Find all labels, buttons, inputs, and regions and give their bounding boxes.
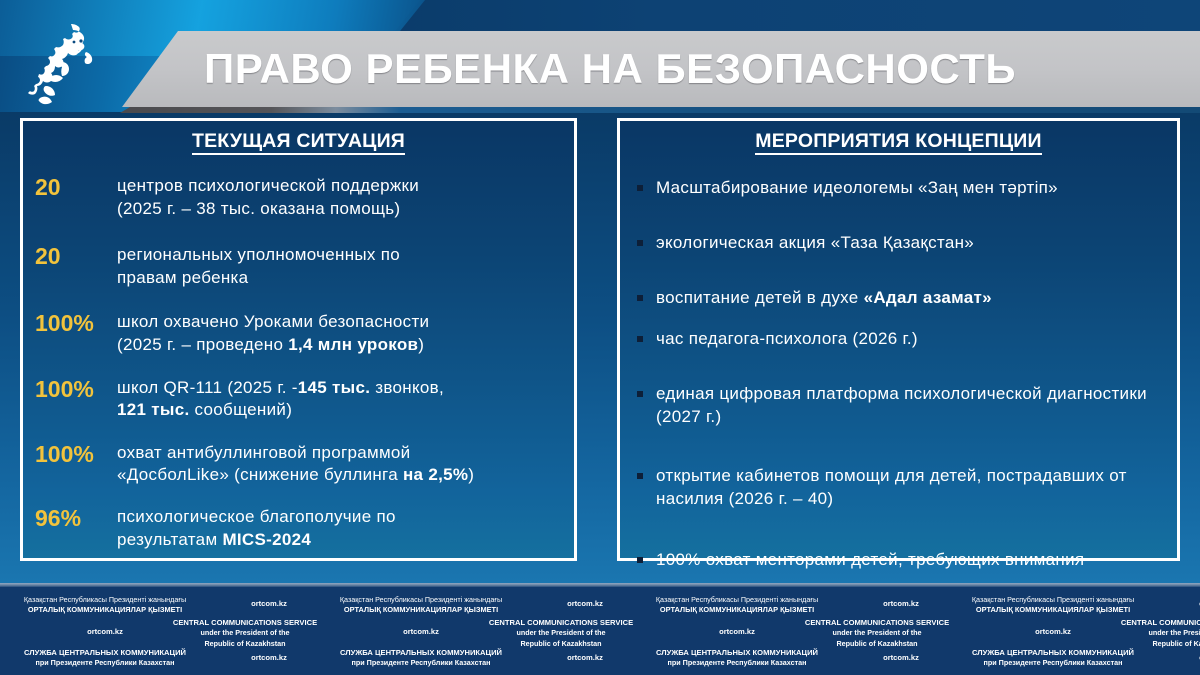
footer-banner: Қазақстан Республикасы Президенті жанынд… xyxy=(0,583,1200,675)
stat-value: 100% xyxy=(31,442,117,467)
stat-line-2-bold: MICS-2024 xyxy=(222,530,311,549)
list-item-label: единая цифровая платформа психологическо… xyxy=(656,383,1163,429)
left-panel-heading-text: ТЕКУЩАЯ СИТУАЦИЯ xyxy=(192,130,405,155)
list-item-label: открытие кабинетов помощи для детей, пос… xyxy=(656,465,1163,511)
footer-website-url[interactable]: ortcom.kz xyxy=(1170,599,1200,608)
right-panel-heading-text: МЕРОПРИЯТИЯ КОНЦЕПЦИИ xyxy=(755,130,1041,155)
bullet-square-icon xyxy=(630,177,656,191)
bullet-square-icon xyxy=(630,465,656,479)
stat-value: 20 xyxy=(31,175,117,200)
stat-line-2-bold: 1,4 млн уроков xyxy=(288,335,418,354)
bullet-square-icon xyxy=(630,232,656,246)
title-bar: ПРАВО РЕБЕНКА НА БЕЗОПАСНОСТЬ xyxy=(122,31,1200,107)
stat-line-1-bold: 145 тыс. xyxy=(298,378,371,397)
stat-line-2-post: ) xyxy=(468,465,474,484)
footer-kazakh-name: Қазақстан Республикасы Президенті жанынд… xyxy=(948,595,1158,616)
footer-logo-strip: Қазақстан Республикасы Президенті жанынд… xyxy=(0,587,1200,675)
stat-description: школ QR-111 (2025 г. -145 тыс. звонков, … xyxy=(117,377,564,422)
list-item: открытие кабинетов помощи для детей, пос… xyxy=(630,465,1163,511)
footer-logo-tile: Қазақстан Республикасы Президенті жанынд… xyxy=(0,587,316,675)
stat-row: 96% психологическое благополучие по резу… xyxy=(23,506,574,551)
footer-russian-name: СЛУЖБА ЦЕНТРАЛЬНЫХ КОММУНИКАЦИЙпри Прези… xyxy=(948,647,1158,668)
stat-value: 20 xyxy=(31,244,117,269)
list-item-text: открытие кабинетов помощи для детей, пос… xyxy=(656,466,1127,508)
list-item-text: 100% охват менторами детей, требующих вн… xyxy=(656,550,1084,569)
stat-value: 100% xyxy=(31,377,117,402)
stat-line-2: (2025 г. – 38 тыс. оказана помощь) xyxy=(117,199,400,218)
stat-line-2-bold: на 2,5% xyxy=(403,465,468,484)
footer-logo-tile: Қазақстан Республикасы Президенті жанынд… xyxy=(632,587,948,675)
stat-row: 100% школ охвачено Уроками безопасности … xyxy=(23,311,574,356)
list-item-text: экологическая акция «Таза Қазақстан» xyxy=(656,233,974,252)
stat-row: 100% школ QR-111 (2025 г. -145 тыс. звон… xyxy=(23,377,574,422)
stat-list: 20 центров психологической поддержки (20… xyxy=(23,167,574,551)
footer-website-url[interactable]: ortcom.kz xyxy=(222,653,316,662)
slide-root: ПРАВО РЕБЕНКА НА БЕЗОПАСНОСТЬ ТЕКУЩАЯ СИ… xyxy=(0,0,1200,675)
footer-website-url[interactable]: ortcom.kz xyxy=(58,627,152,636)
stat-line-1: школ охвачено Уроками безопасности xyxy=(117,312,429,331)
stat-description: психологическое благополучие по результа… xyxy=(117,506,564,551)
list-item: 100% охват менторами детей, требующих вн… xyxy=(630,549,1163,572)
footer-english-name: CENTRAL COMMUNICATIONS SERVICEunder the … xyxy=(466,617,656,650)
footer-logo-tile: Қазақстан Республикасы Президенті жанынд… xyxy=(316,587,632,675)
list-item-label: 100% охват менторами детей, требующих вн… xyxy=(656,549,1163,572)
list-item-text: Масштабирование идеологемы «Заң мен тәрт… xyxy=(656,178,1058,197)
bullet-square-icon xyxy=(630,549,656,563)
stat-line-1: региональных уполномоченных по xyxy=(117,245,400,264)
list-item-label: Масштабирование идеологемы «Заң мен тәрт… xyxy=(656,177,1163,200)
list-item-label: воспитание детей в духе «Адал азамат» xyxy=(656,287,1163,310)
footer-website-url[interactable]: ortcom.kz xyxy=(538,599,632,608)
list-item-label: экологическая акция «Таза Қазақстан» xyxy=(656,232,1163,255)
right-panel-heading: МЕРОПРИЯТИЯ КОНЦЕПЦИИ xyxy=(620,130,1177,153)
footer-kazakh-name: Қазақстан Республикасы Президенті жанынд… xyxy=(632,595,842,616)
page-title: ПРАВО РЕБЕНКА НА БЕЗОПАСНОСТЬ xyxy=(204,48,1016,90)
stat-line-1-post: звонков, xyxy=(370,378,444,397)
stat-description: региональных уполномоченных по правам ре… xyxy=(117,244,564,289)
list-item: Масштабирование идеологемы «Заң мен тәрт… xyxy=(630,177,1163,200)
left-panel-heading: ТЕКУЩАЯ СИТУАЦИЯ xyxy=(23,130,574,153)
footer-website-url[interactable]: ortcom.kz xyxy=(374,627,468,636)
stat-line-2-post: ) xyxy=(418,335,424,354)
bullet-square-icon xyxy=(630,287,656,301)
stat-line-2: правам ребенка xyxy=(117,268,248,287)
footer-russian-name: СЛУЖБА ЦЕНТРАЛЬНЫХ КОММУНИКАЦИЙпри Прези… xyxy=(632,647,842,668)
footer-kazakh-name: Қазақстан Республикасы Президенті жанынд… xyxy=(316,595,526,616)
bullet-square-icon xyxy=(630,383,656,397)
footer-website-url[interactable]: ortcom.kz xyxy=(222,599,316,608)
snow-leopard-emblem xyxy=(26,24,104,116)
stat-line-1: центров психологической поддержки xyxy=(117,176,419,195)
stat-line-1-pre: школ QR-111 (2025 г. - xyxy=(117,378,298,397)
list-item-text: час педагога-психолога (2026 г.) xyxy=(656,329,918,348)
list-item: воспитание детей в духе «Адал азамат» xyxy=(630,287,1163,310)
footer-english-name: CENTRAL COMMUNICATIONS SERVICEunder the … xyxy=(1098,617,1200,650)
footer-russian-name: СЛУЖБА ЦЕНТРАЛЬНЫХ КОММУНИКАЦИЙпри Прези… xyxy=(316,647,526,668)
footer-website-url[interactable]: ortcom.kz xyxy=(1170,653,1200,662)
list-item-text: воспитание детей в духе xyxy=(656,288,864,307)
bullet-square-icon xyxy=(630,328,656,342)
stat-value: 100% xyxy=(31,311,117,336)
footer-logo-tile: Қазақстан Республикасы Президенті жанынд… xyxy=(948,587,1200,675)
list-item-label: час педагога-психолога (2026 г.) xyxy=(656,328,1163,351)
stat-value: 96% xyxy=(31,506,117,531)
stat-description: центров психологической поддержки (2025 … xyxy=(117,175,564,220)
footer-russian-name: СЛУЖБА ЦЕНТРАЛЬНЫХ КОММУНИКАЦИЙпри Прези… xyxy=(0,647,210,668)
stat-line-2-pre: (2025 г. – проведено xyxy=(117,335,288,354)
current-situation-panel: ТЕКУЩАЯ СИТУАЦИЯ 20 центров психологичес… xyxy=(20,118,577,561)
footer-website-url[interactable]: ortcom.kz xyxy=(690,627,784,636)
bullet-list: Масштабирование идеологемы «Заң мен тәрт… xyxy=(620,165,1177,571)
footer-website-url[interactable]: ortcom.kz xyxy=(538,653,632,662)
footer-kazakh-name: Қазақстан Республикасы Президенті жанынд… xyxy=(0,595,210,616)
stat-row: 100% охват антибуллинговой программой «Д… xyxy=(23,442,574,487)
stat-line-2-pre: результатам xyxy=(117,530,222,549)
stat-line-1: охват антибуллинговой программой xyxy=(117,443,410,462)
stat-description: охват антибуллинговой программой «Досбол… xyxy=(117,442,564,487)
footer-website-url[interactable]: ortcom.kz xyxy=(854,653,948,662)
list-item-text-bold: «Адал азамат» xyxy=(864,288,992,307)
concept-measures-panel: МЕРОПРИЯТИЯ КОНЦЕПЦИИ Масштабирование ид… xyxy=(617,118,1180,561)
stat-description: школ охвачено Уроками безопасности (2025… xyxy=(117,311,564,356)
list-item: единая цифровая платформа психологическо… xyxy=(630,383,1163,429)
footer-website-url[interactable]: ortcom.kz xyxy=(1006,627,1100,636)
stat-line-2-pre: «ДосболLike» (снижение буллинга xyxy=(117,465,403,484)
stat-line-2-bold: 121 тыс. xyxy=(117,400,190,419)
footer-english-name: CENTRAL COMMUNICATIONS SERVICEunder the … xyxy=(150,617,340,650)
list-item: экологическая акция «Таза Қазақстан» xyxy=(630,232,1163,255)
footer-website-url[interactable]: ortcom.kz xyxy=(854,599,948,608)
stat-line-2-post: сообщений) xyxy=(190,400,293,419)
list-item-text: единая цифровая платформа психологическо… xyxy=(656,384,1147,426)
stat-row: 20 центров психологической поддержки (20… xyxy=(23,175,574,220)
list-item: час педагога-психолога (2026 г.) xyxy=(630,328,1163,351)
stat-line-1: психологическое благополучие по xyxy=(117,507,396,526)
footer-english-name: CENTRAL COMMUNICATIONS SERVICEunder the … xyxy=(782,617,972,650)
stat-row: 20 региональных уполномоченных по правам… xyxy=(23,244,574,289)
